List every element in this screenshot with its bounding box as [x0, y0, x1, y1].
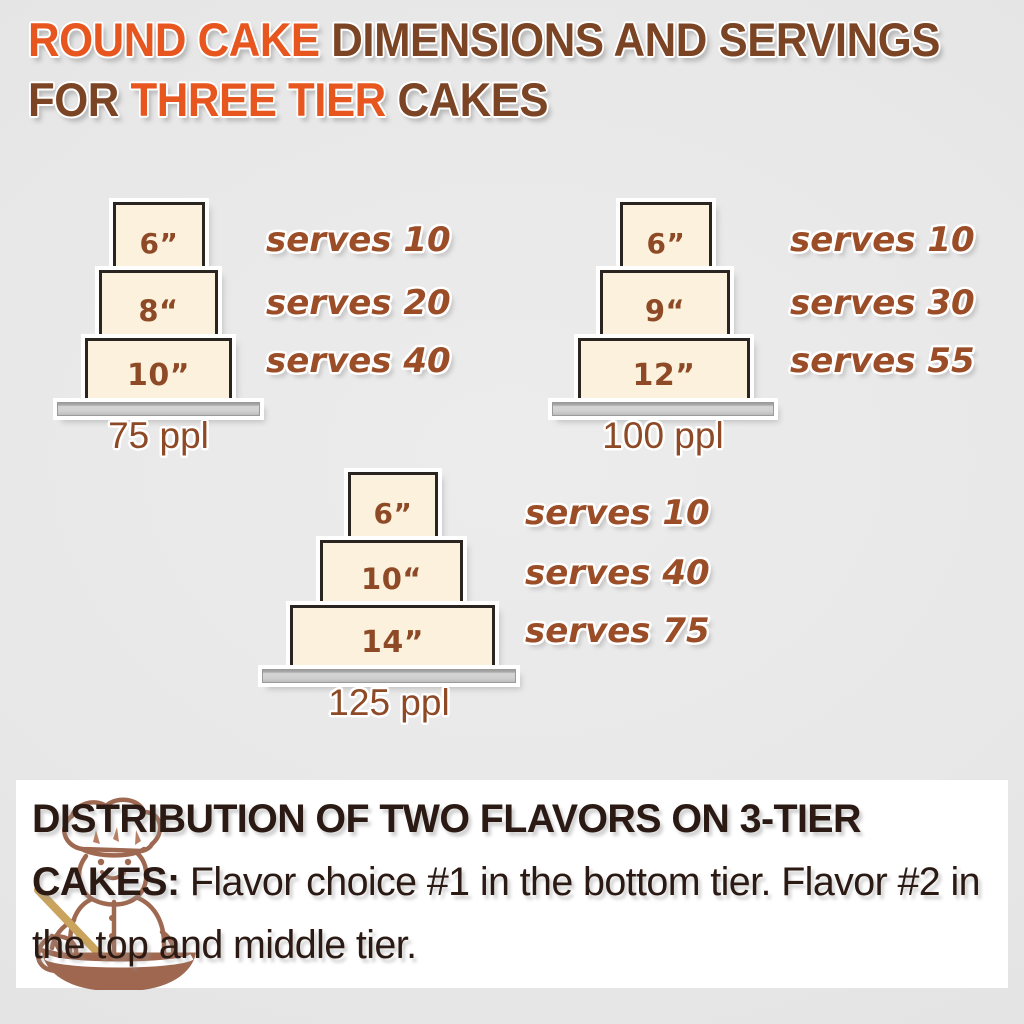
tier-size-label: 6” [623, 227, 709, 260]
title-line-2: FOR THREE TIER CAKES [28, 70, 935, 130]
tier-serves-label: serves 10 [790, 220, 975, 260]
flavor-distribution-text: DISTRIBUTION OF TWO FLAVORS ON 3-TIER CA… [32, 788, 993, 977]
cake-tier-top: 6” [620, 202, 712, 270]
title-segment-orange-2: THREE TIER [131, 73, 398, 126]
title-line-1: ROUND CAKE DIMENSIONS AND SERVINGS [28, 10, 935, 70]
tier-size-label: 6” [351, 497, 435, 530]
title-segment-brown-2: FOR [28, 73, 131, 126]
tier-serves-label: serves 10 [266, 220, 451, 260]
tier-serves-label: serves 40 [266, 341, 451, 381]
cake-tier-bottom: 10” [85, 338, 232, 402]
cake-total-label: 100 ppl [552, 415, 774, 457]
cake-tier-bottom: 12” [578, 338, 750, 402]
tier-serves-label: serves 40 [525, 553, 710, 593]
tier-size-label: 9“ [603, 294, 727, 328]
title-segment-brown-3: CAKES [397, 73, 548, 126]
tier-size-label: 10” [88, 358, 229, 393]
tier-size-label: 8“ [102, 294, 215, 328]
cake-tier-middle: 10“ [320, 540, 463, 605]
cake-plate [57, 402, 260, 416]
cake-tier-middle: 8“ [99, 270, 218, 338]
tier-serves-label: serves 55 [790, 341, 975, 381]
title-segment-orange-1: ROUND CAKE [28, 13, 331, 66]
tier-size-label: 14” [293, 625, 492, 660]
cake-tier-middle: 9“ [600, 270, 730, 338]
tier-serves-label: serves 10 [525, 493, 710, 533]
cake-plate [552, 402, 774, 416]
cake-tier-top: 6” [113, 202, 205, 270]
cake-total-label: 125 ppl [262, 682, 516, 724]
page-title: ROUND CAKE DIMENSIONS AND SERVINGS FOR T… [28, 10, 1003, 130]
tier-size-label: 12” [581, 358, 747, 393]
tier-serves-label: serves 20 [266, 283, 451, 323]
flavor-distribution-panel: DISTRIBUTION OF TWO FLAVORS ON 3-TIER CA… [16, 780, 1008, 988]
cake-total-label: 75 ppl [57, 415, 260, 457]
cake-tier-bottom: 14” [290, 605, 495, 669]
cake-plate [262, 669, 516, 683]
cake-tier-top: 6” [348, 472, 438, 540]
tier-size-label: 10“ [323, 562, 460, 596]
tier-serves-label: serves 75 [525, 611, 710, 651]
tier-size-label: 6” [116, 227, 202, 260]
title-segment-brown-1: DIMENSIONS AND SERVINGS [331, 13, 940, 66]
tier-serves-label: serves 30 [790, 283, 975, 323]
